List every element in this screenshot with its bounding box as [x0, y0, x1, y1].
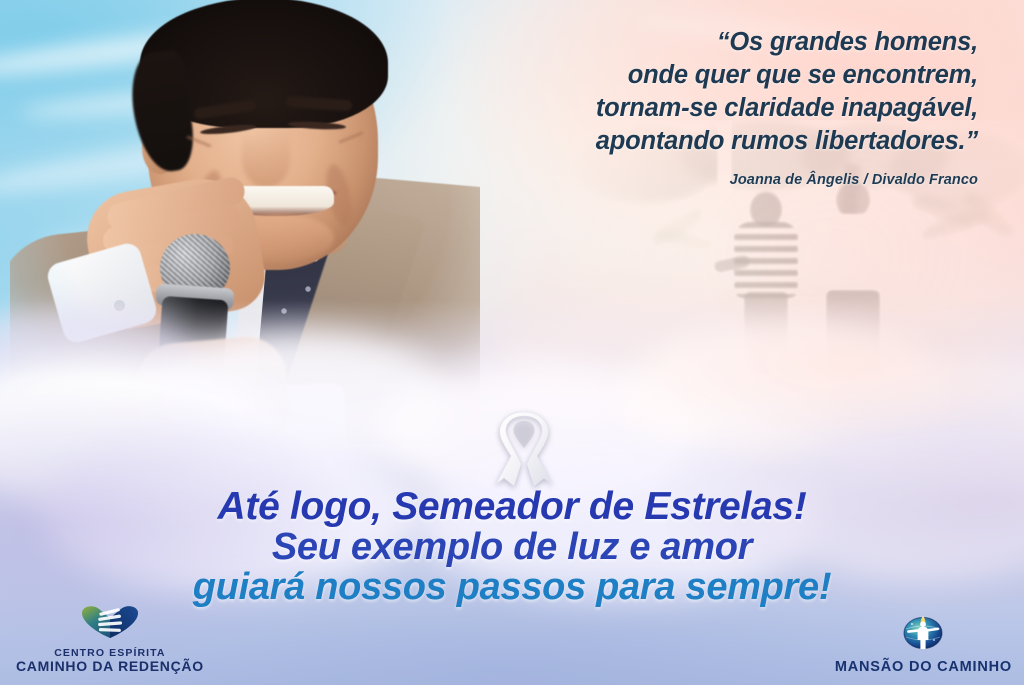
portrait-photo	[10, 0, 480, 444]
quote-line-2: onde quer que se encontrem,	[418, 59, 978, 92]
logo-right-text: MANSÃO DO CAMINHO	[835, 659, 1012, 675]
hand-holding-microphone	[133, 334, 292, 457]
quote-attribution: Joanna de Ângelis / Divaldo Franco	[418, 172, 978, 188]
logo-mansao-do-caminho[interactable]: MANSÃO DO CAMINHO	[835, 609, 1012, 675]
figure-head	[750, 192, 782, 226]
quote-line-4: apontando rumos libertadores.”	[418, 125, 978, 158]
logo-right-line-1: MANSÃO DO CAMINHO	[835, 659, 1012, 675]
logo-left-line-2: CAMINHO DA REDENÇÃO	[16, 659, 204, 675]
globe-figure-flame-icon	[898, 609, 948, 656]
quote-line-1: “Os grandes homens,	[418, 26, 978, 59]
memorial-poster: “Os grandes homens, onde quer que se enc…	[0, 0, 1024, 685]
headline-text: Até logo, Semeador de Estrelas! Seu exem…	[0, 486, 1024, 607]
logo-centro-espirita[interactable]: CENTRO ESPÍRITA CAMINHO DA REDENÇÃO	[16, 604, 204, 675]
logo-left-text: CENTRO ESPÍRITA CAMINHO DA REDENÇÃO	[16, 648, 204, 675]
figure-legs	[744, 292, 788, 374]
figure-legs	[826, 290, 880, 382]
headline-line-2: Seu exemplo de luz e amor	[0, 527, 1024, 567]
headline-line-1: Até logo, Semeador de Estrelas!	[0, 486, 1024, 527]
cuff-button	[114, 300, 125, 311]
nose	[242, 130, 290, 188]
white-ribbon-icon	[487, 412, 561, 490]
finger-ring	[194, 380, 212, 394]
headline-line-3: guiará nossos passos para sempre!	[0, 567, 1024, 607]
backdrop-figure-child	[728, 192, 802, 372]
heart-hands-icon	[79, 604, 141, 645]
background-photo	[560, 120, 1024, 420]
quote-text: “Os grandes homens, onde quer que se enc…	[418, 26, 978, 159]
backdrop-figure-adult	[810, 182, 896, 380]
quote-line-3: tornam-se claridade inapagável,	[418, 92, 978, 125]
